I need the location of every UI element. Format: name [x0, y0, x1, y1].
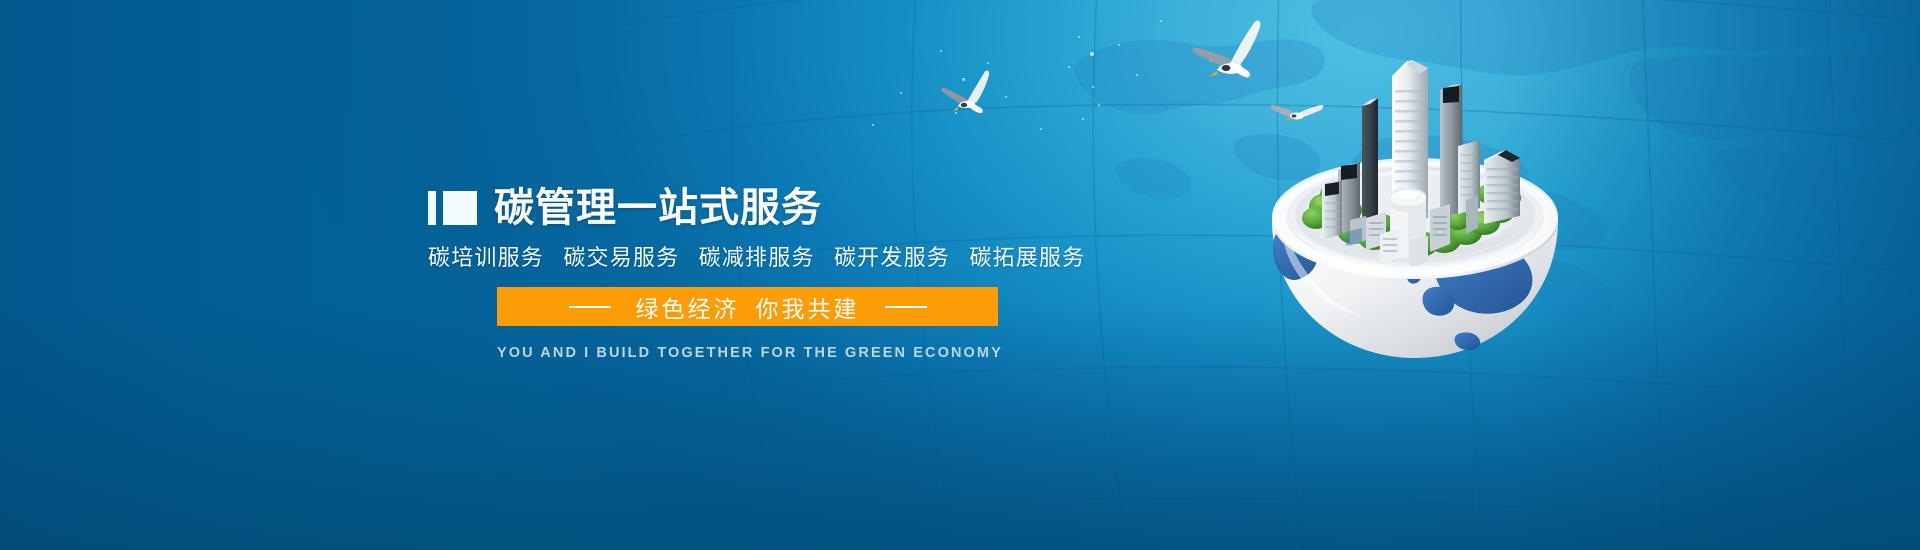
service-item: 碳拓展服务: [969, 245, 1085, 270]
service-item: 碳交易服务: [563, 245, 679, 270]
globe-city-artwork: [1262, 28, 1568, 358]
seagull-icon: [938, 66, 1002, 128]
english-tagline: YOU AND I BUILD TOGETHER FOR THE GREEN E…: [497, 345, 998, 361]
slogan-bar: 绿色经济你我共建: [497, 287, 998, 326]
slogan-part-two: 你我共建: [756, 296, 860, 322]
service-list: 碳培训服务 碳交易服务 碳减排服务 碳开发服务 碳拓展服务: [428, 240, 1068, 272]
service-item: 碳培训服务: [428, 245, 544, 270]
seagull-icon: [1186, 18, 1272, 100]
bar-square-mark-icon: [428, 191, 477, 225]
service-item: 碳开发服务: [834, 245, 950, 270]
headline-block: 碳管理一站式服务 碳培训服务 碳交易服务 碳减排服务 碳开发服务 碳拓展服务: [428, 185, 1068, 272]
carbon-management-banner: 碳管理一站式服务 碳培训服务 碳交易服务 碳减排服务 碳开发服务 碳拓展服务 绿…: [0, 0, 1920, 550]
dash-rule-icon: [885, 306, 927, 308]
slogan-part-one: 绿色经济: [636, 296, 740, 322]
dash-rule-icon: [569, 306, 611, 308]
slogan-text: 绿色经济你我共建: [636, 290, 860, 324]
service-item: 碳减排服务: [699, 245, 815, 270]
page-title: 碳管理一站式服务: [494, 185, 822, 231]
title-row: 碳管理一站式服务: [428, 185, 1068, 231]
